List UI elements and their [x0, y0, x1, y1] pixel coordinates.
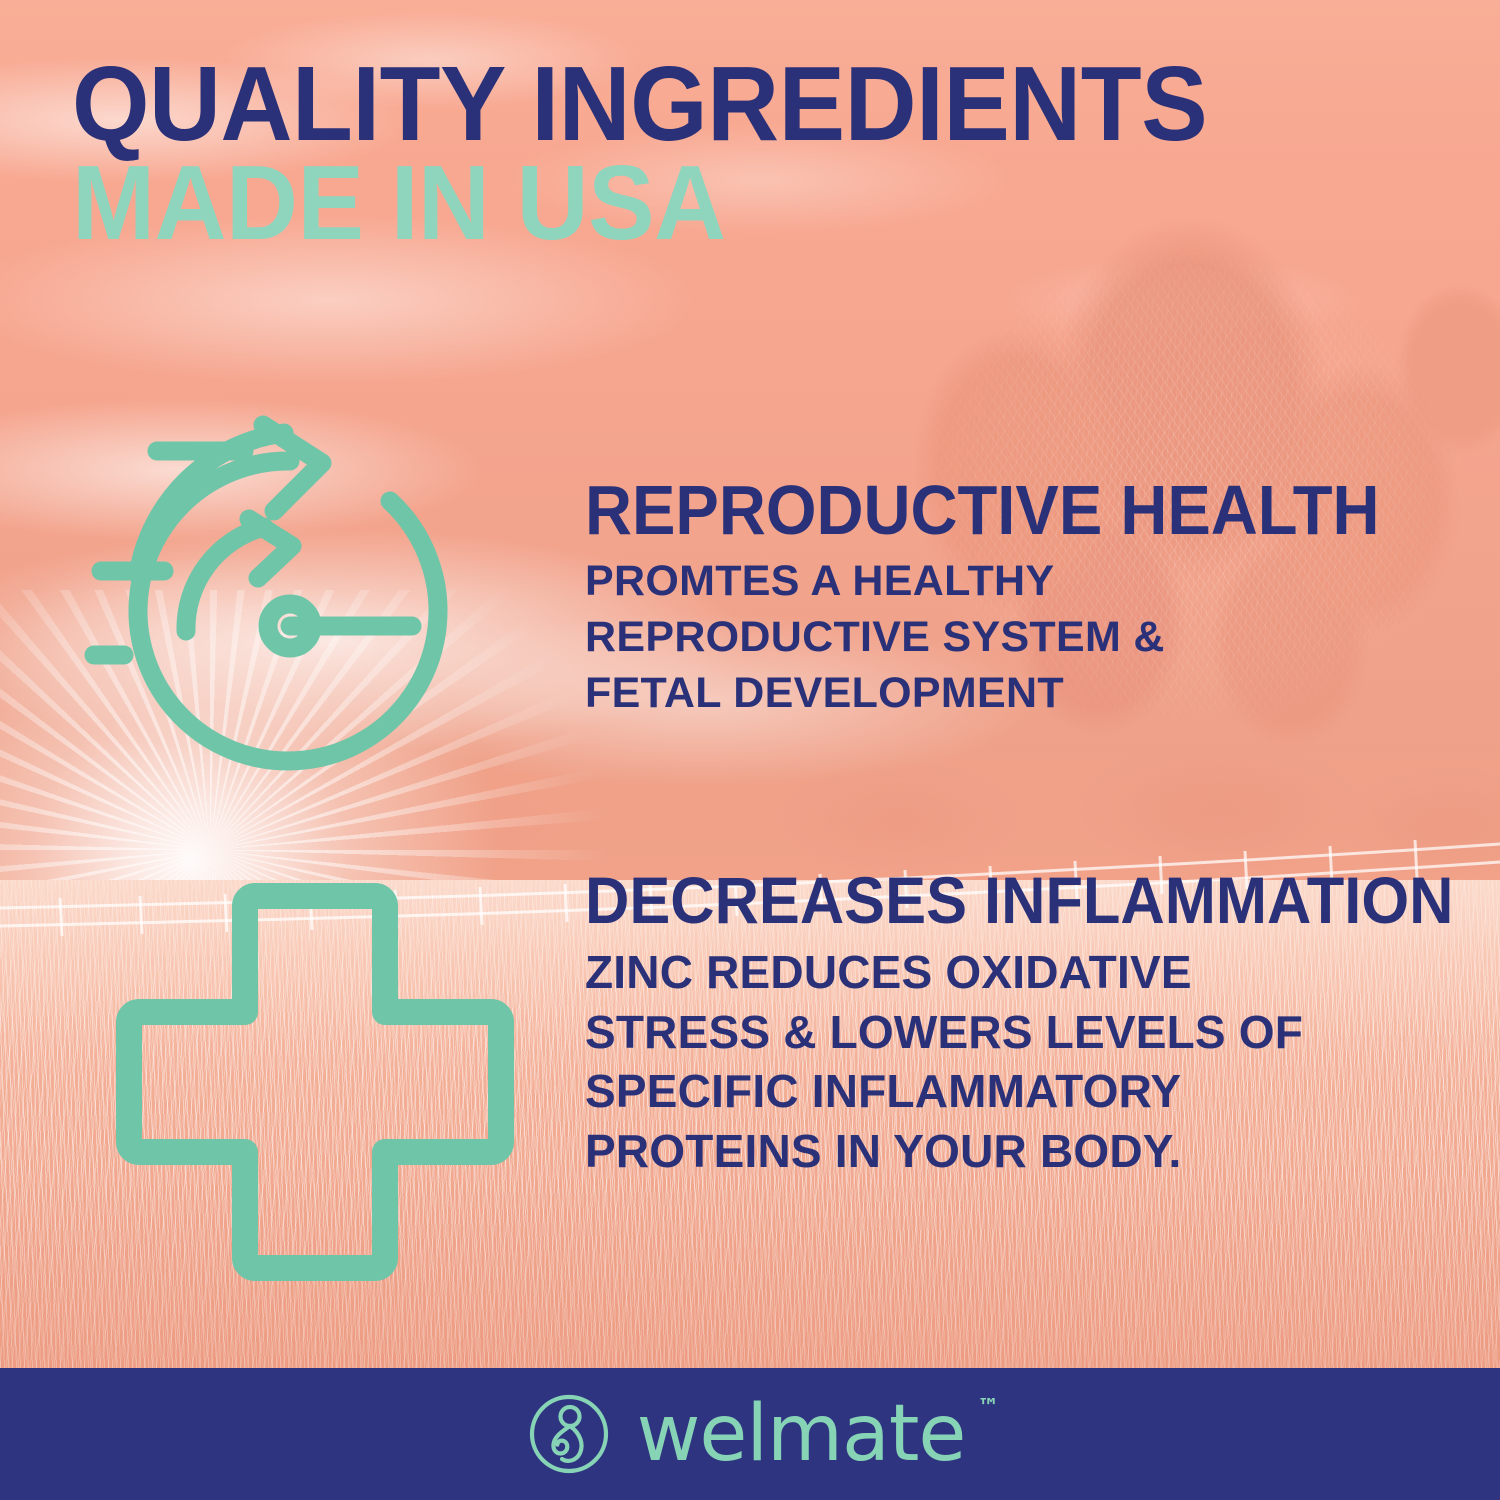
headline-line-secondary: MADE IN USA: [72, 161, 1350, 246]
feature-body-line: SPECIFIC INFLAMMATORY: [585, 1062, 1485, 1122]
feature-body-line: PROMTES A HEALTHY: [585, 554, 1465, 610]
footer-brand-bar: welmate ™: [0, 1368, 1500, 1500]
headline-line-primary: QUALITY INGREDIENTS: [72, 62, 1350, 147]
feature-body-line: REPRODUCTIVE SYSTEM &: [585, 610, 1465, 666]
product-infographic: QUALITY INGREDIENTS MADE IN USA: [0, 0, 1500, 1500]
feature-title: DECREASES INFLAMMATION: [585, 870, 1422, 931]
feature-body-line: PROTEINS IN YOUR BODY.: [585, 1122, 1485, 1182]
feature-body-line: ZINC REDUCES OXIDATIVE: [585, 943, 1485, 1003]
feature-body: PROMTES A HEALTHY REPRODUCTIVE SYSTEM & …: [585, 554, 1465, 722]
welmate-circle-monogram-icon: [523, 1388, 615, 1480]
feature-body-line: STRESS & LOWERS LEVELS OF: [585, 1003, 1485, 1063]
trademark-symbol: ™: [977, 1397, 999, 1419]
brand-wordmark-text: welmate: [637, 1389, 966, 1479]
feature-body-line: FETAL DEVELOPMENT: [585, 666, 1465, 722]
brand-lockup: welmate ™: [523, 1388, 966, 1480]
feature-body: ZINC REDUCES OXIDATIVE STRESS & LOWERS L…: [585, 943, 1485, 1182]
page-title: QUALITY INGREDIENTS MADE IN USA: [72, 62, 1432, 246]
medical-cross-icon: [95, 862, 535, 1302]
brand-wordmark: welmate ™: [637, 1395, 966, 1473]
feature-reproductive-health: REPRODUCTIVE HEALTH PROMTES A HEALTHY RE…: [585, 478, 1465, 722]
feature-decreases-inflammation: DECREASES INFLAMMATION ZINC REDUCES OXID…: [585, 870, 1485, 1182]
speed-gauge-icon: [78, 415, 498, 830]
feature-title: REPRODUCTIVE HEALTH: [585, 478, 1403, 542]
